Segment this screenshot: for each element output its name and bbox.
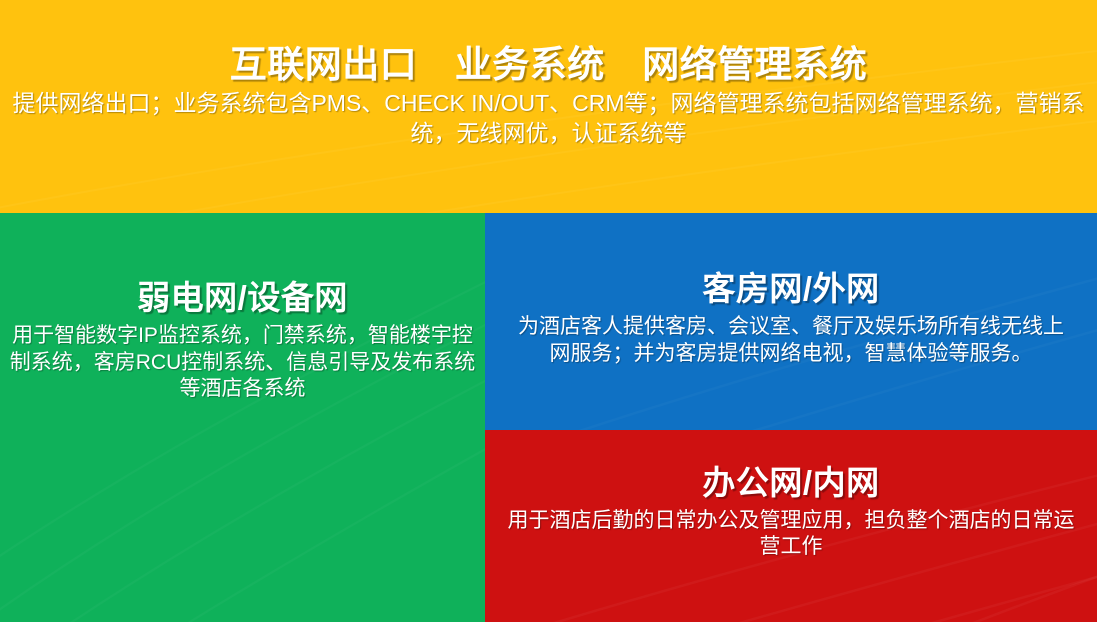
panel-title-guest-network: 客房网/外网 [491, 271, 1091, 308]
slide-canvas: 互联网出口 业务系统 网络管理系统 提供网络出口；业务系统包含PMS、CHECK… [0, 0, 1097, 622]
panel-content: 弱电网/设备网 用于智能数字IP监控系统，门禁系统，智能楼宇控制系统，客房RCU… [0, 280, 485, 556]
panel-office-network: 办公网/内网 用于酒店后勤的日常办公及管理应用，担负整个酒店的日常运营工作 [485, 430, 1097, 622]
panel-weak-current-network: 弱电网/设备网 用于智能数字IP监控系统，门禁系统，智能楼宇控制系统，客房RCU… [0, 213, 485, 622]
page-subtitle: 提供网络出口；业务系统包含PMS、CHECK IN/OUT、CRM等；网络管理系… [6, 85, 1091, 148]
panel-title-office-network: 办公网/内网 [491, 465, 1091, 502]
page-title: 互联网出口 业务系统 网络管理系统 [6, 44, 1091, 85]
panel-body-weak-current: 用于智能数字IP监控系统，门禁系统，智能楼宇控制系统，客房RCU控制系统、信息引… [6, 317, 479, 404]
panel-guest-room-network: 客房网/外网 为酒店客人提供客房、会议室、餐厅及娱乐场所有线无线上网服务；并为客… [485, 213, 1097, 430]
panel-content: 客房网/外网 为酒店客人提供客房、会议室、餐厅及娱乐场所有线无线上网服务；并为客… [485, 271, 1097, 372]
panel-body-guest-network: 为酒店客人提供客房、会议室、餐厅及娱乐场所有线无线上网服务；并为客房提供网络电视… [491, 308, 1091, 368]
panel-internet-exit: 互联网出口 业务系统 网络管理系统 提供网络出口；业务系统包含PMS、CHECK… [0, 0, 1097, 213]
panel-content: 互联网出口 业务系统 网络管理系统 提供网络出口；业务系统包含PMS、CHECK… [0, 0, 1097, 148]
panel-body-office-network: 用于酒店后勤的日常办公及管理应用，担负整个酒店的日常运营工作 [491, 502, 1091, 562]
panel-title-weak-current: 弱电网/设备网 [6, 280, 479, 317]
panel-content: 办公网/内网 用于酒店后勤的日常办公及管理应用，担负整个酒店的日常运营工作 [485, 465, 1097, 588]
